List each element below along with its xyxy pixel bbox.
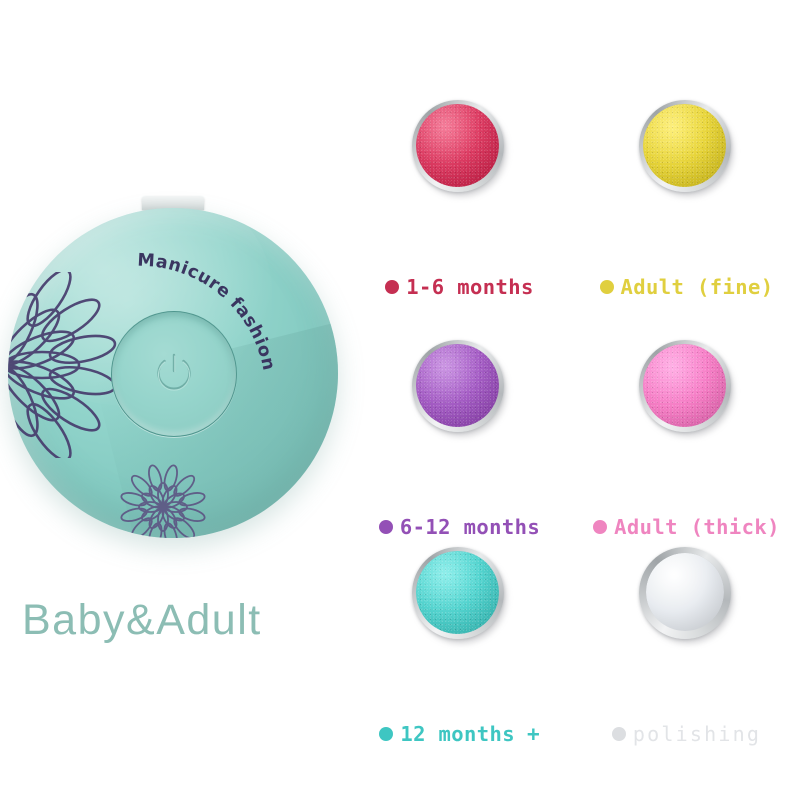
disc-sheen xyxy=(643,104,726,187)
grinding-head-label: Adult (fine) xyxy=(621,275,774,299)
grinding-head-caption: 12 months + xyxy=(346,722,573,746)
legend-dot-icon xyxy=(593,520,607,534)
product-wordmark: Baby&Adult xyxy=(22,596,262,645)
grinding-head-caption: 1-6 months xyxy=(346,275,573,299)
svg-text:Manicure fashion: Manicure fashion xyxy=(137,251,279,373)
disc-face xyxy=(416,104,499,187)
grinding-head-item[interactable]: 6-12 months xyxy=(346,336,573,539)
disc-face xyxy=(646,553,724,631)
disc-face xyxy=(643,104,726,187)
grinding-head-label: polishing xyxy=(633,722,761,746)
grinding-head-item[interactable]: Adult (fine) xyxy=(573,96,800,299)
grinding-heads-grid: 1-6 months Adult (fine) xyxy=(346,96,800,704)
disc-sheen xyxy=(643,344,726,427)
legend-dot-icon xyxy=(612,727,626,741)
grinding-head-item[interactable]: 12 months + xyxy=(346,543,573,746)
grinding-head-disc[interactable] xyxy=(639,340,735,436)
device-brand-text: Manicure fashion xyxy=(104,230,338,478)
grinding-head-disc[interactable] xyxy=(639,547,735,643)
disc-sheen xyxy=(416,551,499,634)
disc-sheen xyxy=(416,104,499,187)
grinding-head-disc[interactable] xyxy=(412,340,508,436)
grinding-head-caption: polishing xyxy=(573,722,800,746)
product-image-canvas: Manicure fashion xyxy=(0,0,800,800)
grinding-head-label: Adult (thick) xyxy=(614,515,780,539)
disc-face xyxy=(643,344,726,427)
legend-dot-icon xyxy=(379,520,393,534)
grinding-head-label: 6-12 months xyxy=(400,515,540,539)
legend-dot-icon xyxy=(385,280,399,294)
device-body: Manicure fashion xyxy=(8,208,338,538)
grinding-head-label: 1-6 months xyxy=(406,275,533,299)
grinding-head-disc[interactable] xyxy=(639,100,735,196)
grinding-head-disc[interactable] xyxy=(412,100,508,196)
grinding-head-label: 12 months xyxy=(400,722,515,746)
grinding-head-caption: 6-12 months xyxy=(346,515,573,539)
disc-sheen xyxy=(646,553,724,631)
grinding-head-item[interactable]: 1-6 months xyxy=(346,96,573,299)
disc-sheen xyxy=(416,344,499,427)
grinding-head-caption: Adult (fine) xyxy=(573,275,800,299)
nail-trimmer-device: Manicure fashion xyxy=(0,196,344,566)
grinding-head-item[interactable]: polishing xyxy=(573,543,800,746)
grinding-head-disc[interactable] xyxy=(412,547,508,643)
disc-face xyxy=(416,551,499,634)
grinding-head-item[interactable]: Adult (thick) xyxy=(573,336,800,539)
grinding-head-caption: Adult (thick) xyxy=(573,515,800,539)
device-brand-textpath: Manicure fashion xyxy=(137,251,279,373)
legend-dot-icon xyxy=(600,280,614,294)
legend-dot-icon xyxy=(379,727,393,741)
disc-face xyxy=(416,344,499,427)
grinding-head-label-suffix: + xyxy=(527,722,540,746)
